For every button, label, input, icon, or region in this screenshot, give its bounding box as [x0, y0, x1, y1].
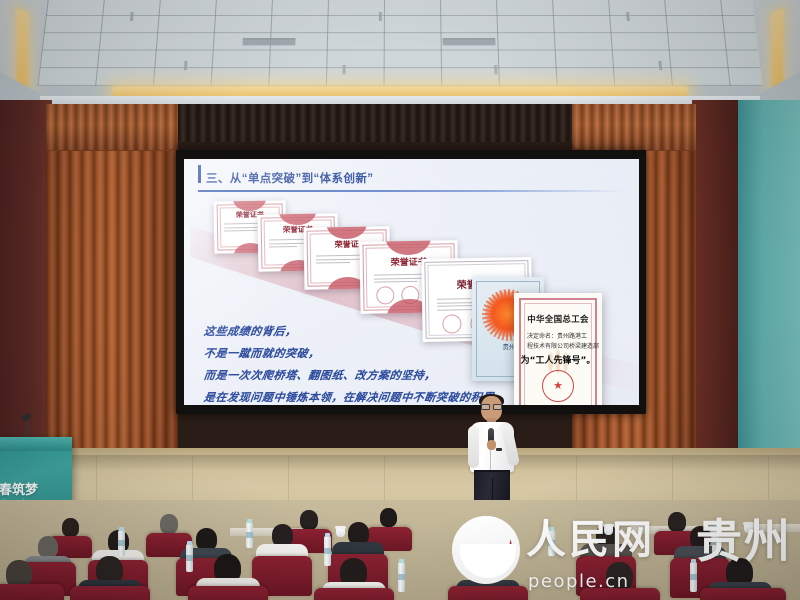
stage-shadow: [0, 455, 800, 471]
ceiling-hanger: [342, 65, 345, 74]
audience-chair: [700, 588, 786, 600]
audience-chair: [70, 586, 150, 600]
paper-cup: [604, 526, 613, 535]
paper-cup: [744, 524, 753, 533]
banner-top-edge: [0, 437, 72, 451]
slide-body-line: 这些成绩的背后，: [203, 323, 298, 339]
water-bottle: [398, 562, 405, 592]
valance-center: [178, 104, 572, 142]
audience-area: [0, 500, 800, 600]
slide-body-line: 是在发现问题中锤炼本领，在解决问题中不断突破的积累: [203, 389, 495, 405]
ceiling: [0, 0, 800, 104]
ceiling-sprinkler: [379, 12, 382, 21]
wall-right-teal: [738, 100, 800, 472]
water-bottle: [712, 528, 719, 556]
ceiling-vent: [243, 38, 296, 45]
slide-title: 三、从“单点突破”到“体系创新”: [206, 170, 373, 186]
water-bottle: [690, 562, 697, 592]
projection-screen-frame: 三、从“单点突破”到“体系创新” 荣誉证书 荣誉证书 荣誉证: [176, 150, 646, 414]
wristwatch-icon: [496, 448, 502, 451]
curtain-left: [46, 110, 178, 460]
slide-body-line: 而是一次次爬桥塔、翻图纸、改方案的坚持，: [203, 367, 437, 383]
audience-chair: [580, 588, 660, 600]
audience-head: [668, 512, 686, 532]
water-bottle: [548, 530, 555, 556]
audience-chair: [314, 588, 394, 600]
audience-head: [380, 508, 397, 527]
valance-left: [46, 104, 178, 151]
water-bottle: [186, 544, 193, 572]
audience-chair: [448, 586, 528, 600]
banner-line1: 青春筑梦: [0, 479, 38, 498]
certificate-national-line1: 决定命名：贵州路港工: [527, 331, 587, 340]
ceiling-sprinkler: [626, 12, 630, 21]
cove-light-right: [771, 7, 784, 93]
ceiling-hanger: [494, 65, 497, 74]
ceiling-soffit: [0, 96, 800, 104]
glasses-icon: [481, 404, 502, 408]
audience-chair: [0, 584, 64, 600]
screenshot-root: 三、从“单点突破”到“体系创新” 荣誉证书 荣誉证书 荣誉证: [0, 0, 800, 600]
speaker-hand: [487, 440, 496, 450]
water-bottle: [246, 522, 253, 548]
valance-right: [572, 104, 696, 151]
ceiling-vent: [443, 38, 496, 45]
certificate-national-line2: 程技术有限公司桥梁建造部: [527, 341, 599, 350]
title-divider: [198, 190, 625, 192]
title-accent-bar: [198, 165, 201, 183]
ceiling-hanger: [184, 61, 188, 70]
audience-head: [160, 514, 178, 534]
audience-head: [38, 536, 58, 558]
slide-body-line: 不是一蹴而就的突破，: [203, 345, 321, 361]
speaker-arm-left: [468, 426, 479, 468]
audience-head: [606, 562, 633, 591]
certificate-national-big: 为“工人先锋号”。: [514, 353, 602, 366]
audience-chair: [188, 586, 268, 600]
red-seal-icon: ★: [542, 370, 574, 402]
wall-left: [0, 100, 52, 460]
audience-head: [62, 518, 79, 537]
cove-light-left: [16, 7, 29, 93]
certificate-national-heading: 中华全国总工会: [514, 313, 602, 325]
projection-screen: 三、从“单点突破”到“体系创新” 荣誉证书 荣誉证书 荣誉证: [184, 159, 639, 405]
water-bottle: [118, 530, 125, 556]
paper-cup: [336, 528, 345, 537]
water-bottle: [324, 536, 331, 566]
wall-right-dark: [692, 100, 738, 472]
desk: [745, 524, 800, 532]
ceiling-grid: [37, 0, 762, 86]
certificate-national: 中华全国总工会 决定命名：贵州路港工 程技术有限公司桥梁建造部 为“工人先锋号”…: [514, 293, 602, 405]
ceiling-panel: [37, 0, 762, 86]
audience-head: [300, 510, 318, 530]
